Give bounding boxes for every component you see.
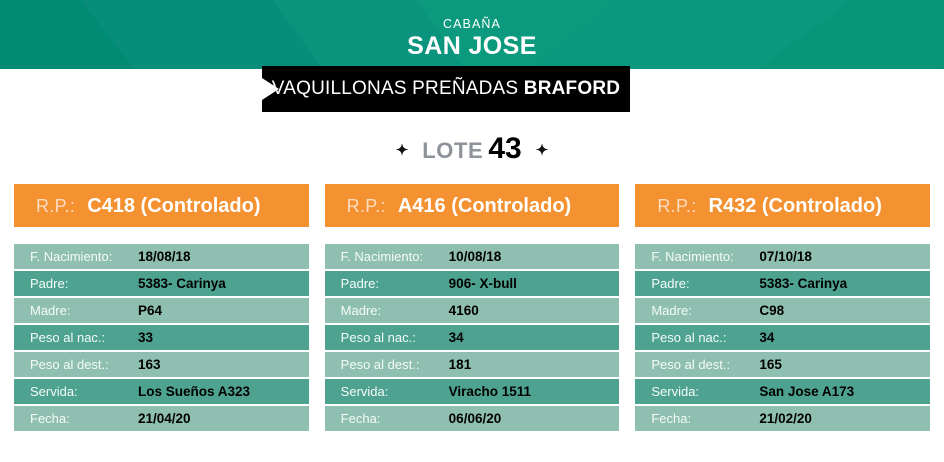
animal-cards-container: R.P.: C418 (Controlado) F. Nacimiento: 1… (14, 184, 930, 433)
row-value: 4160 (449, 303, 479, 318)
row-label: Peso al dest.: (651, 357, 759, 372)
star-ornament-left-icon: ✦ (396, 143, 409, 158)
ribbon-breed-text: BRAFORD (524, 78, 620, 99)
ribbon-prefix-text: VAQUILLONAS PREÑADAS (272, 78, 524, 99)
row-value: 906- X-bull (449, 276, 517, 291)
rp-value: R432 (Controlado) (709, 195, 882, 217)
brand-block: CABAÑA SAN JOSE (0, 0, 944, 61)
table-row: Servida: San Jose A173 (635, 379, 930, 404)
animal-card: R.P.: R432 (Controlado) F. Nacimiento: 0… (635, 184, 930, 433)
row-label: Fecha: (30, 411, 138, 426)
lot-heading: ✦ LOTE 43 ✦ (0, 134, 944, 164)
table-row: Peso al nac.: 33 (14, 325, 309, 350)
row-label: Madre: (341, 303, 449, 318)
ribbon-banner-wrapper: VAQUILLONAS PREÑADAS BRAFORD (0, 66, 944, 114)
row-label: Padre: (30, 276, 138, 291)
row-value: Viracho 1511 (449, 384, 531, 399)
row-label: F. Nacimiento: (651, 249, 759, 264)
row-value: 34 (449, 330, 464, 345)
row-label: Servida: (30, 384, 138, 399)
row-label: Peso al nac.: (341, 330, 449, 345)
brand-title: SAN JOSE (0, 32, 944, 61)
row-label: Peso al nac.: (651, 330, 759, 345)
rp-value: C418 (Controlado) (87, 195, 260, 217)
row-value: 06/06/20 (449, 411, 502, 426)
rp-value: A416 (Controlado) (398, 195, 571, 217)
row-value: P64 (138, 303, 162, 318)
rp-label: R.P.: (36, 196, 75, 216)
row-value: 33 (138, 330, 153, 345)
lot-number: 43 (488, 134, 521, 164)
table-row: Madre: 4160 (325, 298, 620, 323)
row-label: Servida: (651, 384, 759, 399)
table-row: F. Nacimiento: 18/08/18 (14, 244, 309, 269)
row-value: 21/02/20 (759, 411, 812, 426)
row-label: Servida: (341, 384, 449, 399)
rp-label: R.P.: (657, 196, 696, 216)
table-row: Madre: C98 (635, 298, 930, 323)
animal-card: R.P.: A416 (Controlado) F. Nacimiento: 1… (325, 184, 620, 433)
table-row: Peso al dest.: 163 (14, 352, 309, 377)
row-label: Madre: (651, 303, 759, 318)
row-value: 165 (759, 357, 782, 372)
rp-header[interactable]: R.P.: C418 (Controlado) (14, 184, 309, 227)
row-label: F. Nacimiento: (341, 249, 449, 264)
row-value: 5383- Carinya (759, 276, 847, 291)
table-row: Fecha: 06/06/20 (325, 406, 620, 431)
row-value: Los Sueños A323 (138, 384, 250, 399)
row-value: 163 (138, 357, 161, 372)
row-value: 10/08/18 (449, 249, 502, 264)
animal-card: R.P.: C418 (Controlado) F. Nacimiento: 1… (14, 184, 309, 433)
row-value: 181 (449, 357, 472, 372)
table-row: Padre: 5383- Carinya (635, 271, 930, 296)
table-row: Servida: Viracho 1511 (325, 379, 620, 404)
row-label: Padre: (341, 276, 449, 291)
table-row: Fecha: 21/02/20 (635, 406, 930, 431)
row-label: Padre: (651, 276, 759, 291)
row-label: Madre: (30, 303, 138, 318)
table-row: Peso al dest.: 165 (635, 352, 930, 377)
animal-detail-table: F. Nacimiento: 07/10/18 Padre: 5383- Car… (635, 244, 930, 431)
rp-label: R.P.: (347, 196, 386, 216)
ribbon-banner: VAQUILLONAS PREÑADAS BRAFORD (262, 66, 630, 112)
animal-detail-table: F. Nacimiento: 18/08/18 Padre: 5383- Car… (14, 244, 309, 431)
row-value: C98 (759, 303, 784, 318)
table-row: Fecha: 21/04/20 (14, 406, 309, 431)
lot-heading-inner: LOTE 43 (422, 134, 521, 164)
table-row: Padre: 906- X-bull (325, 271, 620, 296)
table-row: Madre: P64 (14, 298, 309, 323)
row-label: Peso al nac.: (30, 330, 138, 345)
row-label: Fecha: (341, 411, 449, 426)
table-row: Padre: 5383- Carinya (14, 271, 309, 296)
table-row: F. Nacimiento: 10/08/18 (325, 244, 620, 269)
row-value: 07/10/18 (759, 249, 812, 264)
row-value: 34 (759, 330, 774, 345)
lot-label: LOTE (422, 138, 483, 164)
table-row: Peso al nac.: 34 (325, 325, 620, 350)
animal-detail-table: F. Nacimiento: 10/08/18 Padre: 906- X-bu… (325, 244, 620, 431)
row-label: Peso al dest.: (30, 357, 138, 372)
row-value: 21/04/20 (138, 411, 191, 426)
rp-header[interactable]: R.P.: R432 (Controlado) (635, 184, 930, 227)
row-value: 18/08/18 (138, 249, 191, 264)
table-row: Peso al nac.: 34 (635, 325, 930, 350)
row-label: Fecha: (651, 411, 759, 426)
row-value: 5383- Carinya (138, 276, 226, 291)
table-row: F. Nacimiento: 07/10/18 (635, 244, 930, 269)
row-label: Peso al dest.: (341, 357, 449, 372)
row-label: F. Nacimiento: (30, 249, 138, 264)
star-ornament-right-icon: ✦ (536, 143, 549, 158)
row-value: San Jose A173 (759, 384, 854, 399)
rp-header[interactable]: R.P.: A416 (Controlado) (325, 184, 620, 227)
table-row: Peso al dest.: 181 (325, 352, 620, 377)
table-row: Servida: Los Sueños A323 (14, 379, 309, 404)
brand-eyebrow: CABAÑA (0, 17, 944, 31)
ribbon-banner-text: VAQUILLONAS PREÑADAS BRAFORD (272, 78, 620, 100)
